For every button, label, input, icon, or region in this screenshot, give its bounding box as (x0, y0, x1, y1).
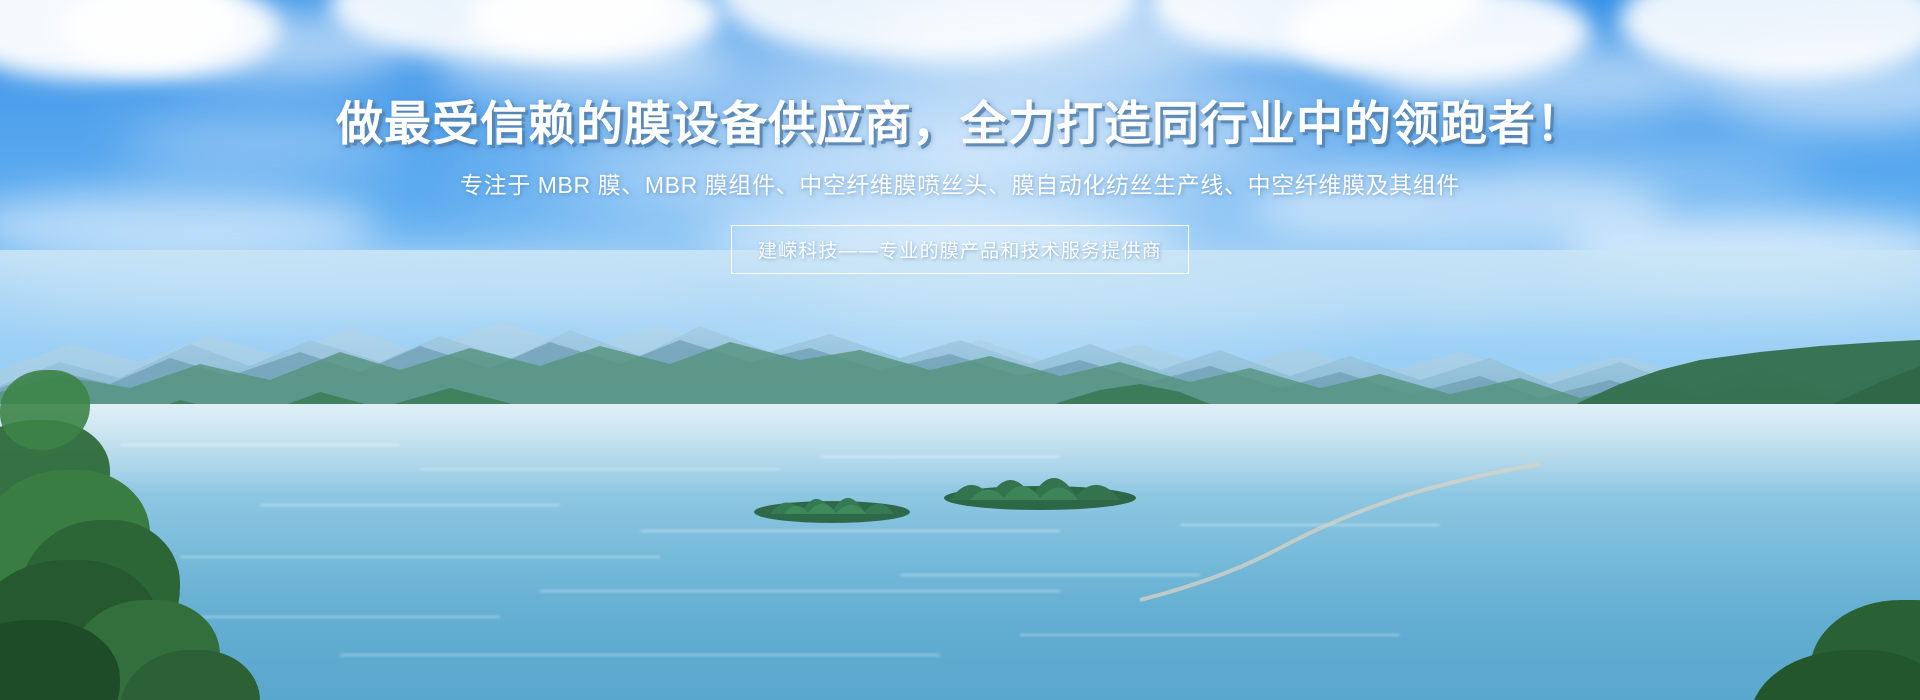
island-medium (930, 442, 1150, 512)
banner-copy: 做最受信赖的膜设备供应商，全力打造同行业中的领跑者！ 专注于 MBR 膜、MBR… (0, 0, 1920, 274)
banner-tagline-box: 建嵘科技——专业的膜产品和技术服务提供商 (731, 225, 1189, 274)
banner-tagline-wrapper: 建嵘科技——专业的膜产品和技术服务提供商 (0, 225, 1920, 274)
hero-banner: 做最受信赖的膜设备供应商，全力打造同行业中的领跑者！ 专注于 MBR 膜、MBR… (0, 0, 1920, 700)
island-small (740, 468, 940, 524)
banner-headline: 做最受信赖的膜设备供应商，全力打造同行业中的领跑者！ (0, 0, 1920, 151)
shoreline-road (1130, 430, 1550, 610)
banner-subline: 专注于 MBR 膜、MBR 膜组件、中空纤维膜喷丝头、膜自动化纺丝生产线、中空纤… (0, 151, 1920, 203)
